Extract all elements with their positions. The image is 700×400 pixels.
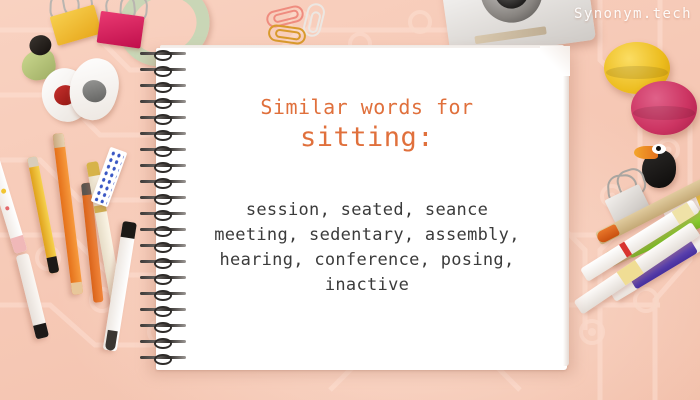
synonym-line: session, seated, seance xyxy=(176,198,558,223)
screenshot-root: Similar words for sitting: session, seat… xyxy=(0,0,700,400)
synonym-line: meeting, sedentary, assembly, xyxy=(176,223,558,248)
page-title-prefix: Similar words for xyxy=(176,94,558,120)
page-headword: sitting: xyxy=(176,122,558,154)
magenta-binder-clip xyxy=(97,5,150,49)
page-right-edge xyxy=(563,52,569,366)
synonym-line: hearing, conference, posing, xyxy=(176,248,558,273)
page-content: Similar words for sitting: session, seat… xyxy=(176,48,558,370)
pink-macaron xyxy=(631,81,697,135)
site-watermark-logo: Synonym.tech xyxy=(574,6,692,22)
synonym-list: session, seated, seance meeting, sedenta… xyxy=(176,198,558,298)
synonym-line: inactive xyxy=(176,273,558,298)
